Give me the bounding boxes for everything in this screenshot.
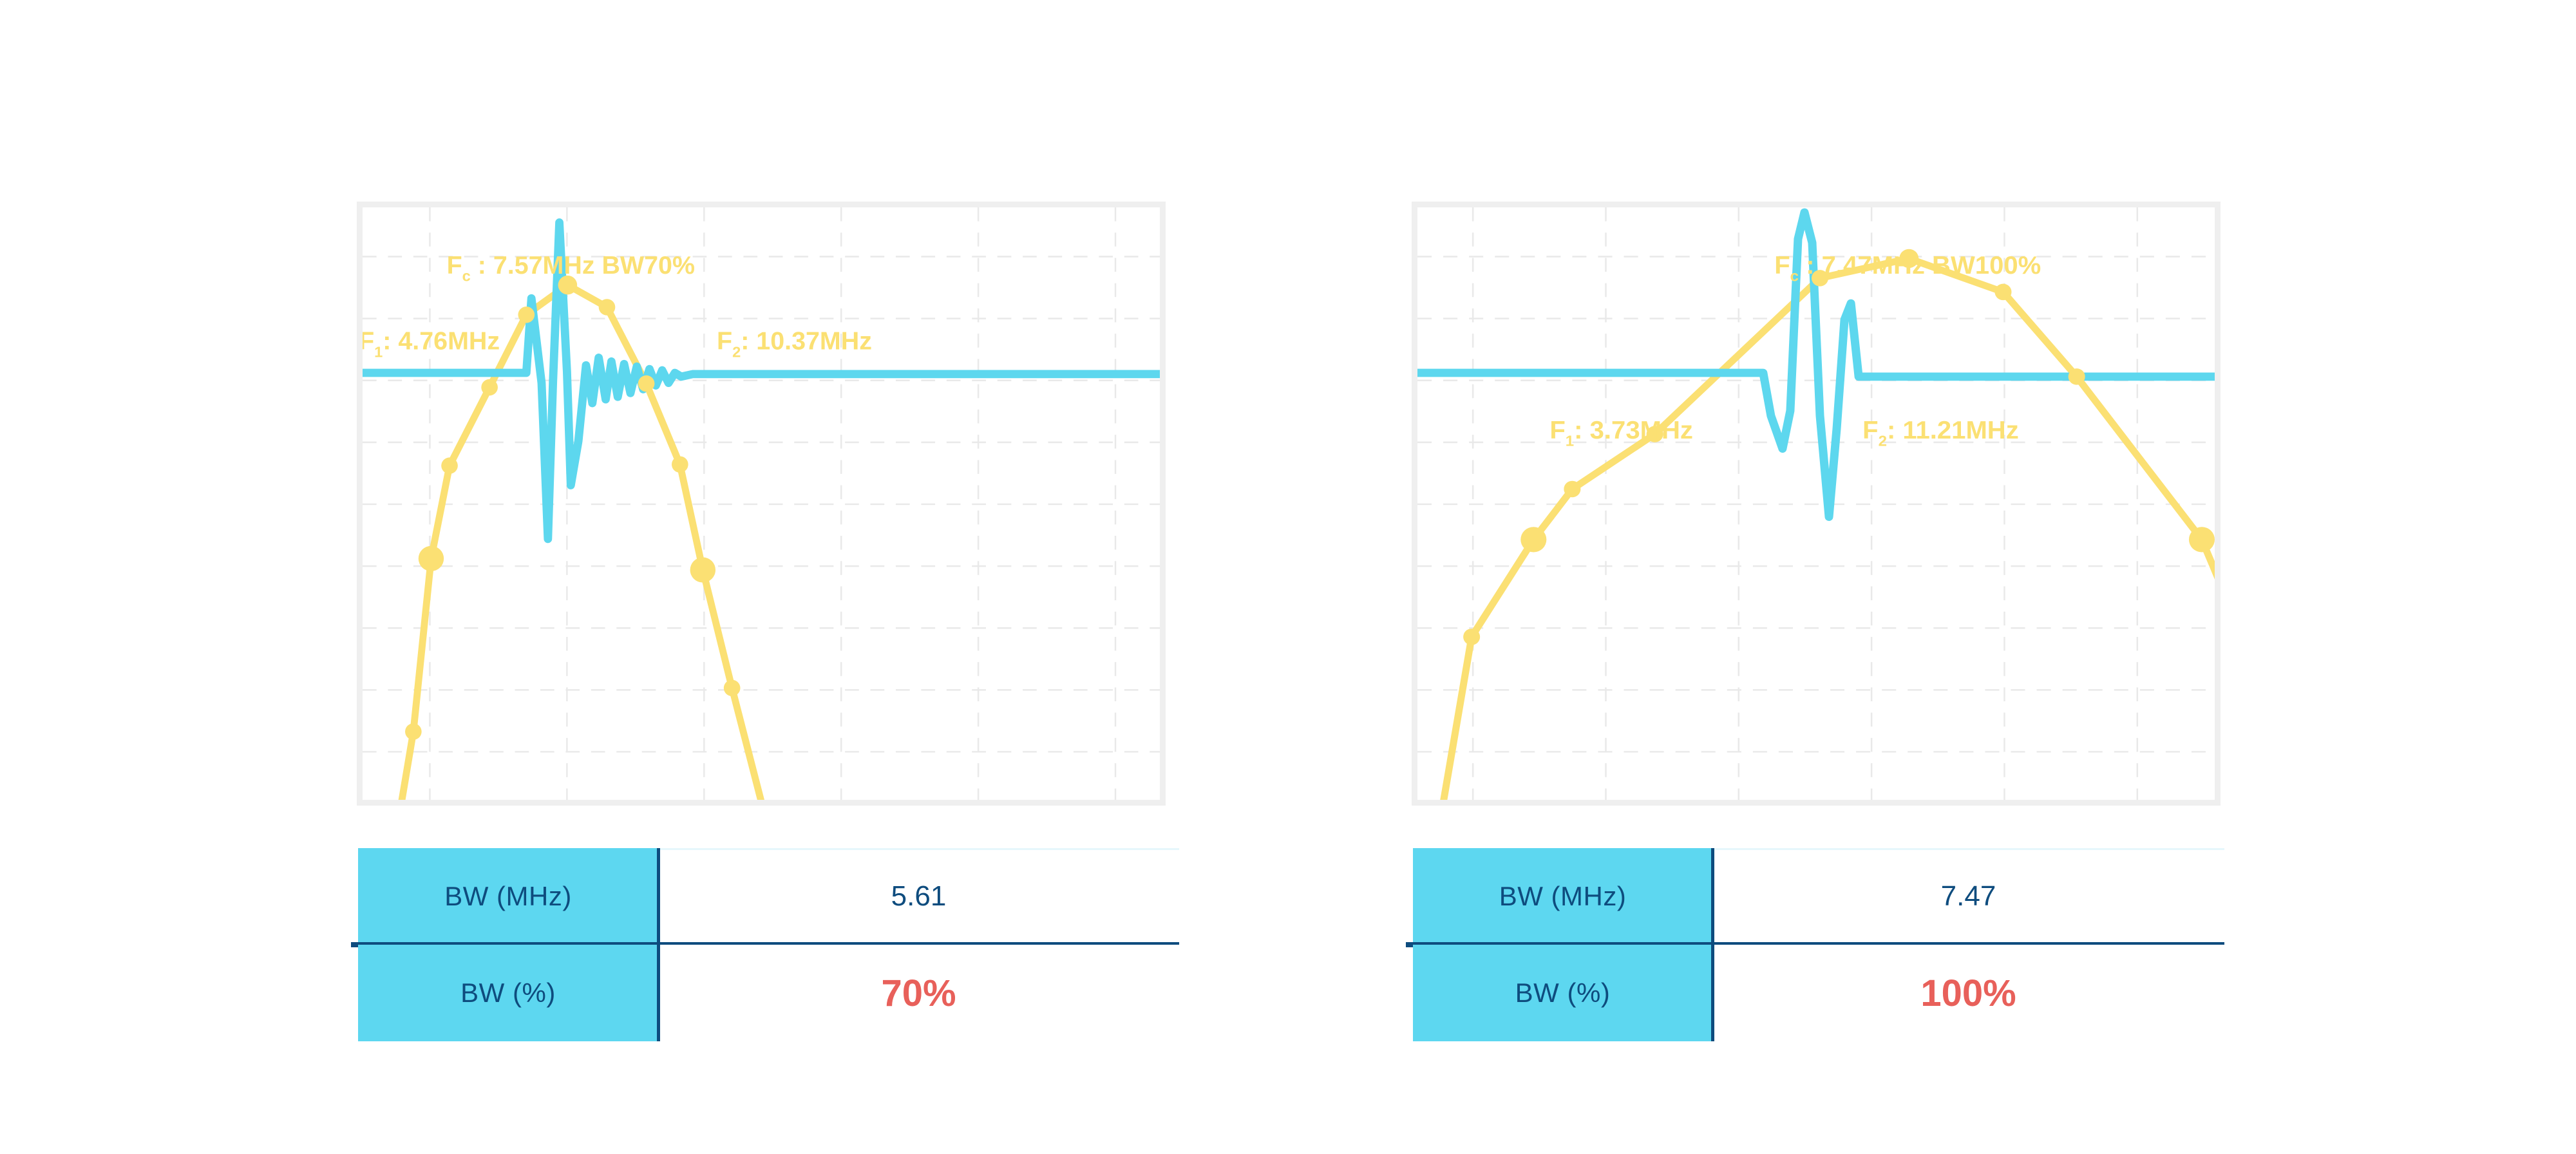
row-value-cell: 5.61 [658,848,1179,945]
f2-text: : 10.37MHz [741,327,872,355]
row-label-cell: BW (MHz) [358,848,658,945]
f2-subscript: 2 [732,344,741,361]
f2-label: F2: 10.37MHz [717,327,872,361]
f2-label: F2: 11.21MHz [1862,416,2019,449]
f1-prefix: F [363,327,374,355]
row-label: BW (%) [1515,978,1611,1008]
row-label-cell: BW (%) [1413,945,1712,1041]
row-value-cell: 7.47 [1712,848,2224,945]
f2-subscript: 2 [1879,433,1887,450]
table-row: BW (%) 70% [358,945,1179,1041]
bandwidth-panel-right: Fc : 7.47MHz BW100% F1: 3.73MHz F2: 11.2… [1288,0,2576,1154]
f1-subscript: 1 [374,344,383,361]
chart-frame-right: Fc : 7.47MHz BW100% F1: 3.73MHz F2: 11.2… [1412,202,2221,806]
f1-prefix: F [1549,416,1565,444]
table-column-divider [657,848,660,945]
fc-text: : 7.57MHz BW70% [471,251,695,279]
row-value-cell: 70% [658,945,1179,1041]
row-label-cell: BW (%) [358,945,658,1041]
row-value: 5.61 [891,880,947,913]
table-top-rule [1712,848,2224,850]
bandwidth-table-left: BW (MHz) 5.61 BW (%) 70% [358,848,1179,1041]
fc-subscript: c [1790,268,1799,285]
fc-prefix: F [1774,251,1790,279]
grid-lines [363,207,1160,800]
table-top-rule [658,848,1179,850]
fc-text: : 7.47MHz BW100% [1799,251,2041,279]
table-column-divider [1711,848,1714,945]
chart-frame-left: Fc : 7.57MHz BW70% F1: 4.76MHz F2: 10.37… [357,202,1166,806]
spectrum-chart-left: Fc : 7.57MHz BW70% F1: 4.76MHz F2: 10.37… [363,207,1160,800]
row-label-cell: BW (MHz) [1413,848,1712,945]
spectrum-chart-right: Fc : 7.47MHz BW100% F1: 3.73MHz F2: 11.2… [1417,207,2215,800]
row-value: 70% [881,972,956,1015]
table-row: BW (MHz) 5.61 [358,848,1179,945]
row-label: BW (MHz) [444,881,572,912]
table-column-divider [1711,945,1714,1041]
row-label: BW (%) [460,978,556,1008]
row-value: 7.47 [1941,880,1996,913]
bandwidth-panel-left: Fc : 7.57MHz BW70% F1: 4.76MHz F2: 10.37… [0,0,1288,1154]
f2-prefix: F [1862,416,1878,444]
row-value: 100% [1920,972,2016,1015]
f1-label: F1: 4.76MHz [363,327,500,361]
row-value-cell: 100% [1712,945,2224,1041]
f1-subscript: 1 [1566,433,1574,450]
f1-label: F1: 3.73MHz [1549,416,1693,449]
fc-subscript: c [462,268,471,285]
table-row: BW (MHz) 7.47 [1413,848,2224,945]
f2-prefix: F [717,327,732,355]
f1-text: : 3.73MHz [1574,416,1693,444]
f2-text: : 11.21MHz [1887,416,2019,444]
row-label: BW (MHz) [1499,881,1627,912]
fc-prefix: F [447,251,462,279]
bandwidth-table-right: BW (MHz) 7.47 BW (%) 100% [1413,848,2224,1041]
table-column-divider [657,945,660,1041]
table-row: BW (%) 100% [1413,945,2224,1041]
f1-text: : 4.76MHz [383,327,500,355]
